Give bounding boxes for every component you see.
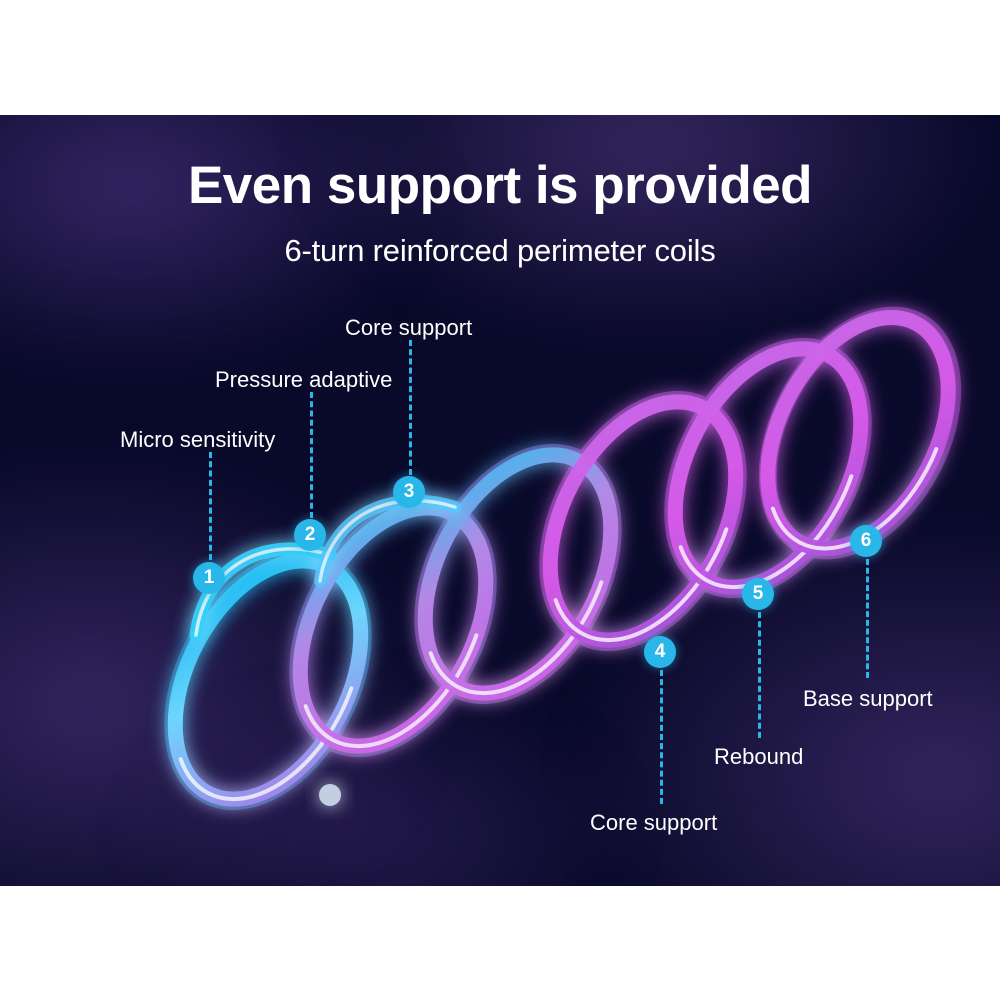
callout-label-pressure-adaptive: Pressure adaptive <box>215 367 392 393</box>
leader-line <box>866 559 869 678</box>
callout-badge-number: 6 <box>861 530 872 552</box>
leader-line <box>409 340 412 475</box>
callout-badge-number: 1 <box>204 567 215 589</box>
callout-badge-number: 3 <box>404 481 415 503</box>
callout-badge-1[interactable]: 1 <box>193 562 225 594</box>
callout-label-core-support-top: Core support <box>345 315 472 341</box>
callout-label-micro-sensitivity: Micro sensitivity <box>120 427 275 453</box>
callout-label-rebound: Rebound <box>714 744 803 770</box>
leader-line <box>660 670 663 804</box>
callout-badge-3[interactable]: 3 <box>393 476 425 508</box>
callout-badge-2[interactable]: 2 <box>294 519 326 551</box>
callout-badge-4[interactable]: 4 <box>644 636 676 668</box>
callout-label-core-support-bottom: Core support <box>590 810 717 836</box>
callout-badge-number: 4 <box>655 641 666 663</box>
spring-coil-illustration <box>0 115 1000 886</box>
leader-line <box>209 452 212 560</box>
artwork-panel: 1 2 3 4 5 6 Micro sensitivity Pressure a… <box>0 115 1000 886</box>
infographic-canvas: 1 2 3 4 5 6 Micro sensitivity Pressure a… <box>0 0 1000 1000</box>
callout-badge-number: 2 <box>305 524 316 546</box>
leader-line <box>758 612 761 738</box>
callout-badge-5[interactable]: 5 <box>742 578 774 610</box>
page-title: Even support is provided <box>0 155 1000 216</box>
callout-label-base-support: Base support <box>803 686 933 712</box>
callout-badge-number: 5 <box>753 583 764 605</box>
page-subtitle: 6-turn reinforced perimeter coils <box>0 233 1000 269</box>
callout-badge-6[interactable]: 6 <box>850 525 882 557</box>
leader-line <box>310 392 313 518</box>
